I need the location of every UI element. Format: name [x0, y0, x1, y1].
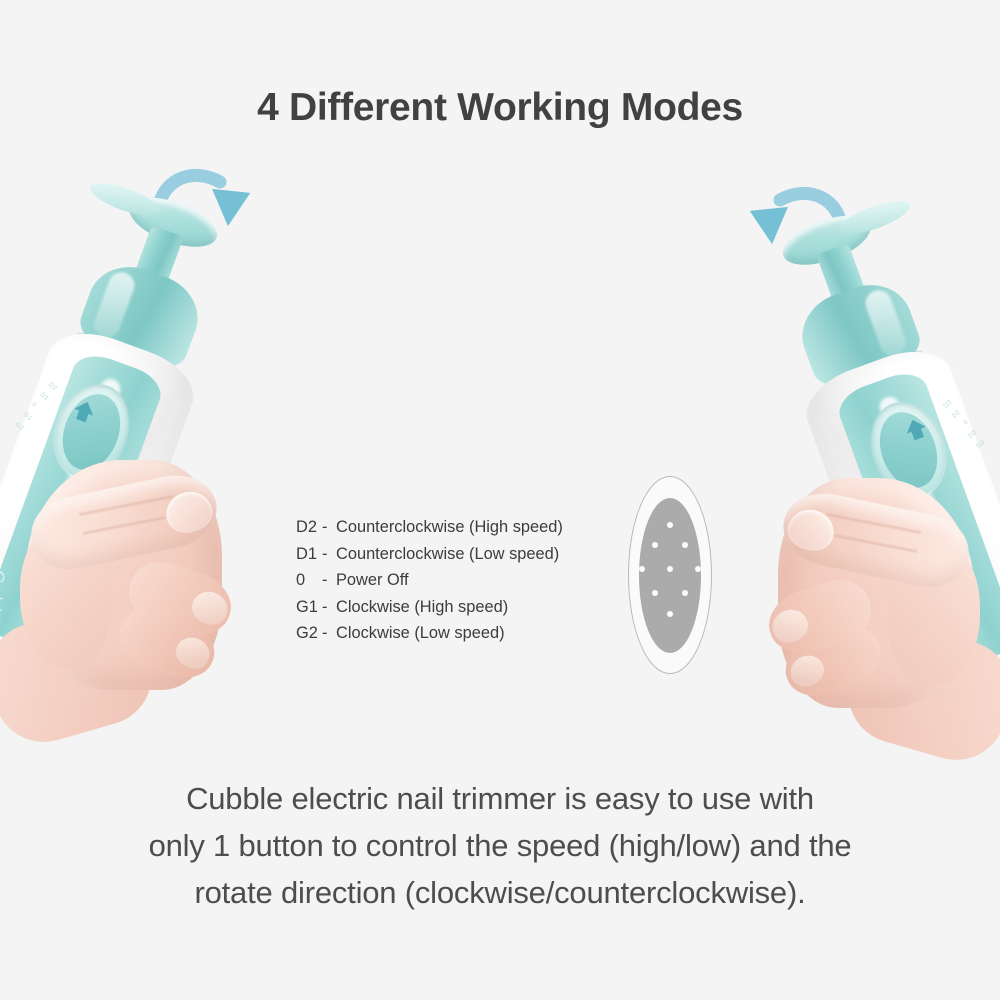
mode-description: Counterclockwise (High speed)	[336, 518, 636, 537]
mode-code: D2	[296, 518, 322, 537]
sanding-disc-dot	[652, 542, 658, 548]
mode-row: D2 - Counterclockwise (High speed)	[296, 518, 636, 545]
hand-holding-device-right	[680, 418, 980, 728]
mode-row: 0 - Power Off	[296, 571, 636, 598]
sanding-disc-dot	[667, 566, 673, 572]
sanding-disc-attachment	[628, 476, 712, 674]
mode-description: Clockwise (High speed)	[336, 598, 636, 617]
page-title: 4 Different Working Modes	[0, 86, 1000, 130]
mode-row: G2 - Clockwise (Low speed)	[296, 624, 636, 651]
sanding-disc-dot	[695, 566, 701, 572]
mode-code: G1	[296, 598, 322, 617]
mode-row: G1 - Clockwise (High speed)	[296, 598, 636, 625]
caption-line: only 1 button to control the speed (high…	[0, 822, 1000, 869]
infographic-canvas: 4 Different Working Modes	[0, 0, 1000, 1000]
sanding-disc-dot	[682, 590, 688, 596]
hand-holding-device-left	[20, 400, 320, 710]
working-modes-legend: D2 - Counterclockwise (High speed) D1 - …	[296, 518, 636, 651]
mode-code: G2	[296, 624, 322, 643]
mode-code: 0	[296, 571, 322, 590]
mode-dash: -	[322, 571, 336, 590]
mode-description: Clockwise (Low speed)	[336, 624, 636, 643]
mode-code: D1	[296, 545, 322, 564]
mode-description: Counterclockwise (Low speed)	[336, 545, 636, 564]
mode-dash: -	[322, 624, 336, 643]
sanding-disc-dot	[667, 522, 673, 528]
mode-description: Power Off	[336, 571, 636, 590]
caption-line: rotate direction (clockwise/counterclock…	[0, 869, 1000, 916]
sanding-disc-dot	[639, 566, 645, 572]
caption-block: Cubble electric nail trimmer is easy to …	[0, 775, 1000, 916]
mode-dash: -	[322, 545, 336, 564]
caption-line: Cubble electric nail trimmer is easy to …	[0, 775, 1000, 822]
mode-row: D1 - Counterclockwise (Low speed)	[296, 545, 636, 572]
sanding-disc-dot	[682, 542, 688, 548]
sanding-disc-dot	[652, 590, 658, 596]
sanding-disc-dot	[667, 611, 673, 617]
mode-dash: -	[322, 598, 336, 617]
mode-dash: -	[322, 518, 336, 537]
